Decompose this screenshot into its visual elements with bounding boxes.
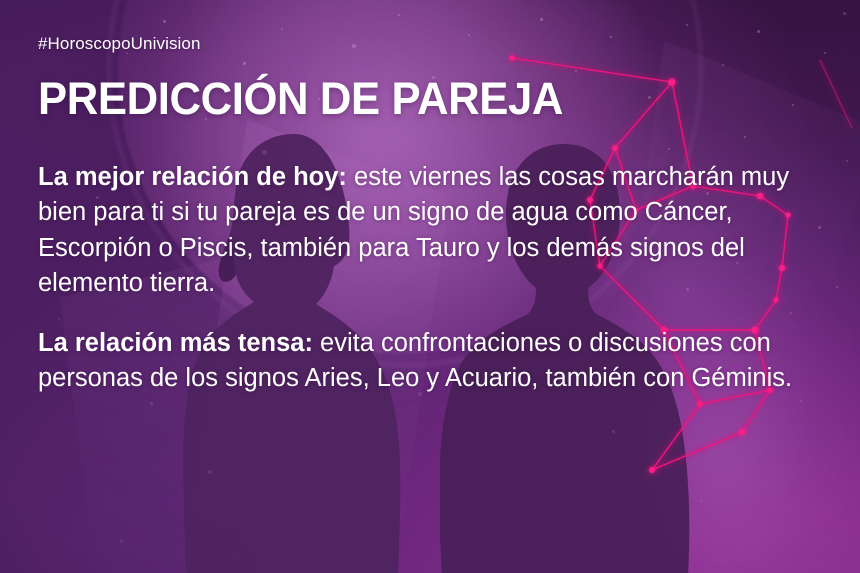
horoscope-body: La mejor relación de hoy: este viernes l… [38,160,822,397]
content-layer: #HoroscopoUnivision PREDICCIÓN DE PAREJA… [0,0,860,573]
horoscope-card: #HoroscopoUnivision PREDICCIÓN DE PAREJA… [0,0,860,573]
tense-relationship-lead: La relación más tensa: [38,329,313,357]
paragraph-best-relationship: La mejor relación de hoy: este viernes l… [38,160,822,302]
hashtag-label: #HoroscopoUnivision [38,34,822,54]
paragraph-tense-relationship: La relación más tensa: evita confrontaci… [38,326,822,397]
best-relationship-lead: La mejor relación de hoy: [38,163,347,191]
page-title: PREDICCIÓN DE PAREJA [38,76,798,122]
